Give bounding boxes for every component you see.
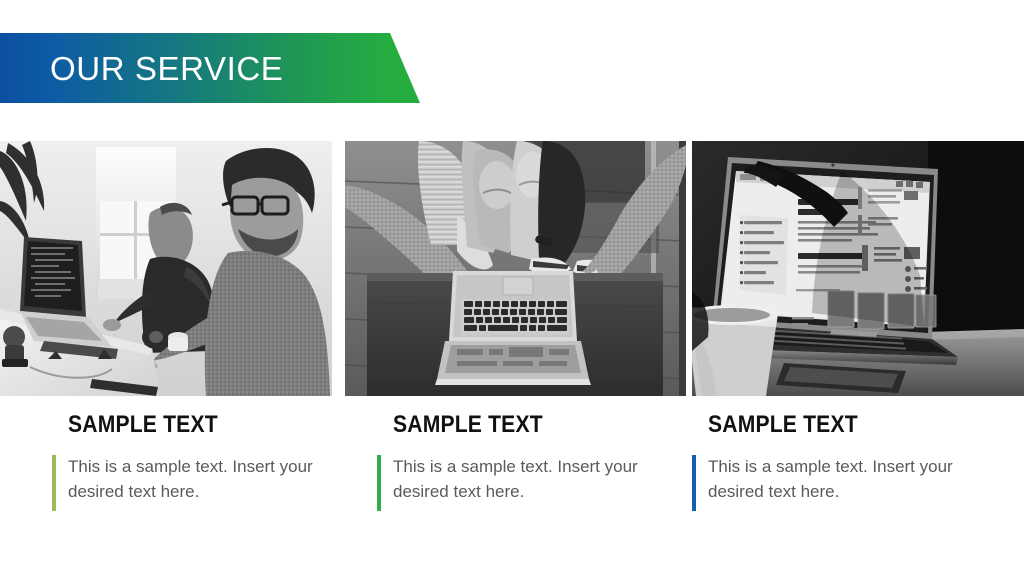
caption-body-wrap-3: This is a sample text. Insert your desir…	[692, 455, 992, 511]
slide-canvas: OUR SERVICE	[0, 0, 1024, 576]
office-teamwork-photo-icon	[0, 141, 332, 396]
header-banner: OUR SERVICE	[0, 33, 425, 103]
accent-bar-1	[52, 455, 56, 511]
gallery-image-1	[0, 141, 332, 396]
caption-title-2: SAMPLE TEXT	[393, 412, 643, 438]
caption-body-wrap-1: This is a sample text. Insert your desir…	[52, 455, 352, 511]
photo-gallery	[0, 141, 1024, 396]
caption-column-2: SAMPLE TEXT This is a sample text. Inser…	[377, 412, 677, 511]
caption-column-3: SAMPLE TEXT This is a sample text. Inser…	[692, 412, 992, 511]
collaboration-laptop-photo-icon	[345, 141, 686, 396]
caption-body-1: This is a sample text. Insert your desir…	[68, 455, 318, 511]
accent-bar-2	[377, 455, 381, 511]
gallery-image-2	[345, 141, 686, 396]
gallery-image-3	[692, 141, 1024, 396]
caption-column-1: SAMPLE TEXT This is a sample text. Inser…	[52, 412, 352, 511]
caption-columns: SAMPLE TEXT This is a sample text. Inser…	[0, 412, 1024, 542]
caption-body-2: This is a sample text. Insert your desir…	[393, 455, 643, 511]
caption-title-3: SAMPLE TEXT	[708, 412, 958, 438]
accent-bar-3	[692, 455, 696, 511]
caption-body-wrap-2: This is a sample text. Insert your desir…	[377, 455, 677, 511]
caption-body-3: This is a sample text. Insert your desir…	[708, 455, 958, 511]
workspace-laptop-photo-icon	[692, 141, 1024, 396]
page-title: OUR SERVICE	[50, 52, 283, 85]
caption-title-1: SAMPLE TEXT	[68, 412, 318, 438]
